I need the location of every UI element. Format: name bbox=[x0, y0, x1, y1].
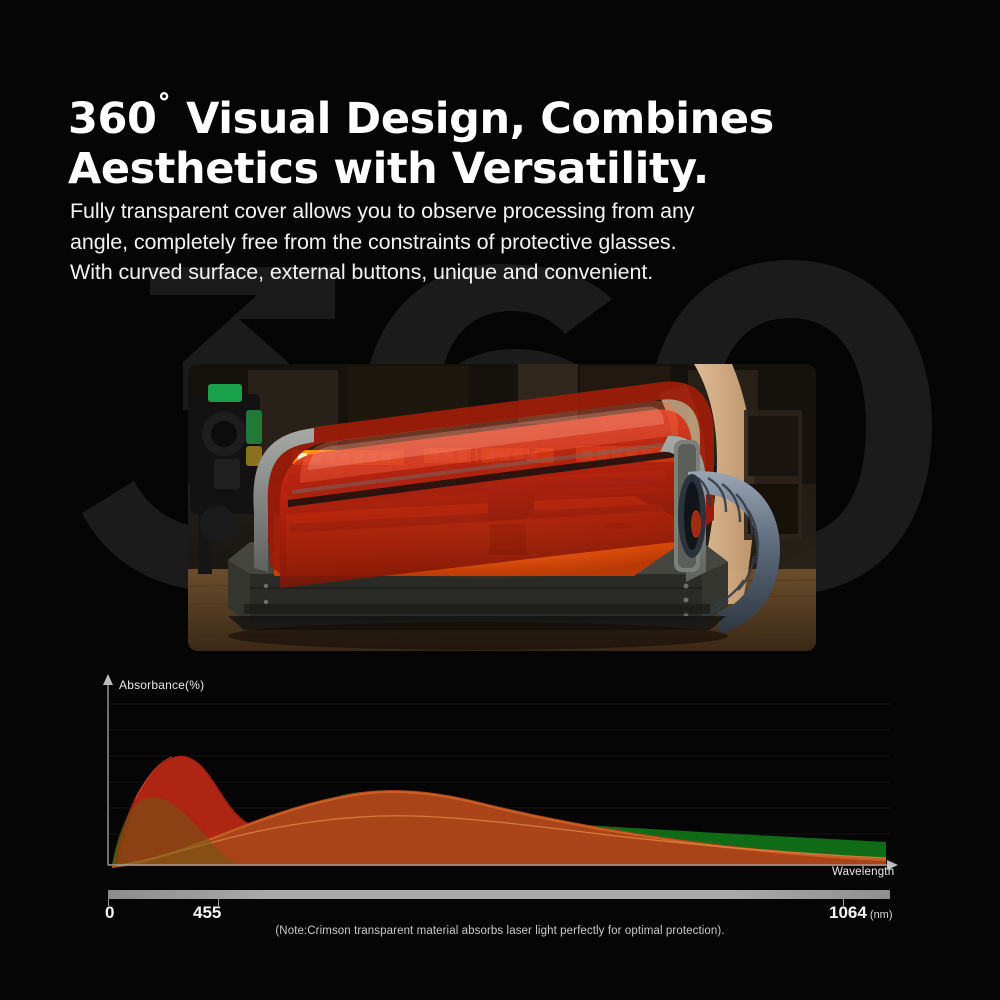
tick-label-1064: 1064 (nm) bbox=[829, 903, 893, 923]
headline-number: 360 bbox=[68, 94, 157, 144]
subtitle-text: Fully transparent cover allows you to ob… bbox=[70, 196, 890, 288]
headline-line-1-rest: Visual Design, Combines bbox=[172, 94, 774, 144]
tick-label-455: 455 bbox=[193, 903, 221, 923]
tick-label-0: 0 bbox=[105, 903, 114, 923]
subtitle-line-2: angle, completely free from the constrai… bbox=[70, 227, 890, 258]
chart-note: (Note:Crimson transparent material absor… bbox=[0, 925, 1000, 937]
headline-line-1: 360˚ Visual Design, Combines bbox=[68, 92, 898, 144]
subtitle-line-1: Fully transparent cover allows you to ob… bbox=[70, 196, 890, 227]
scalebar-track bbox=[108, 890, 890, 899]
subtitle-line-3: With curved surface, external buttons, u… bbox=[70, 257, 890, 288]
tick-unit: (nm) bbox=[867, 909, 893, 921]
tick-label-1064-value: 1064 bbox=[829, 903, 867, 922]
page-title: 360˚ Visual Design, Combines Aesthetics … bbox=[68, 92, 898, 195]
degree-symbol: ˚ bbox=[157, 92, 172, 127]
headline-line-2: Aesthetics with Versatility. bbox=[68, 144, 898, 194]
promo-page: 360˚ Visual Design, Combines Aesthetics … bbox=[0, 0, 1000, 1000]
wavelength-scalebar bbox=[108, 890, 890, 899]
x-axis-label: Wavelength bbox=[832, 866, 894, 878]
laser-engraver-photo bbox=[188, 364, 816, 651]
y-axis-label: Absorbance(%) bbox=[119, 678, 204, 692]
